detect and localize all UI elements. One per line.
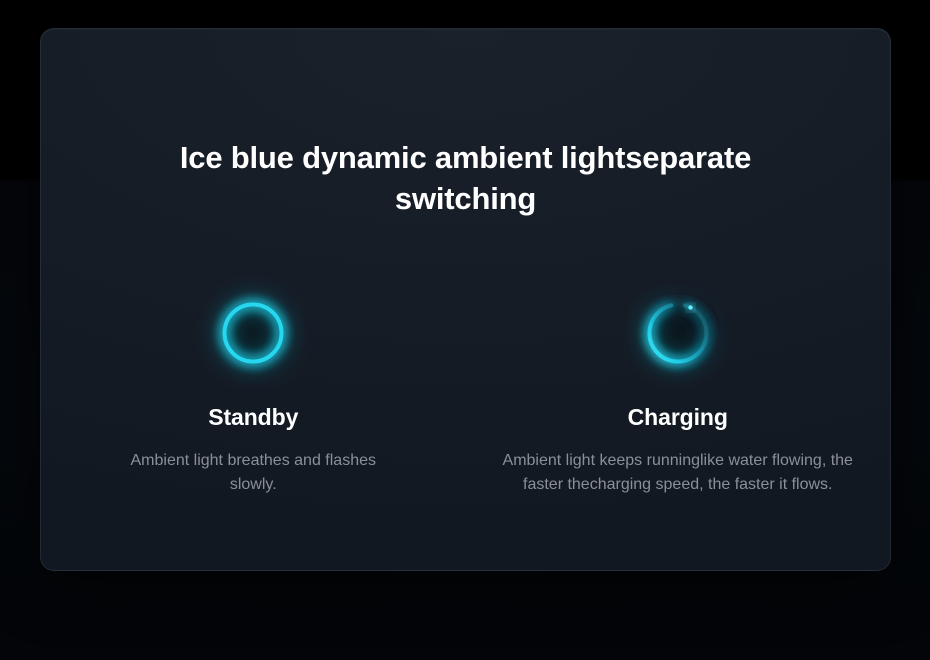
mode-list: Standby Ambient light breathes and flash… — [41, 287, 890, 497]
mode-description-charging: Ambient light keeps runninglike water fl… — [498, 449, 858, 497]
mode-item-standby[interactable]: Standby Ambient light breathes and flash… — [41, 287, 466, 497]
mode-item-charging[interactable]: Charging Ambient light keeps runninglike… — [466, 287, 891, 497]
mode-title-charging: Charging — [628, 403, 728, 431]
ring-full-icon — [207, 287, 299, 379]
ambient-light-card: Ice blue dynamic ambient lightseparate s… — [40, 28, 891, 571]
page-title: Ice blue dynamic ambient lightseparate s… — [41, 137, 890, 219]
standby-indicator[interactable] — [207, 287, 299, 379]
ring-arc-icon — [632, 287, 724, 379]
mode-title-standby: Standby — [208, 403, 298, 431]
charging-indicator[interactable] — [632, 287, 724, 379]
mode-description-standby: Ambient light breathes and flashes slowl… — [128, 449, 378, 497]
